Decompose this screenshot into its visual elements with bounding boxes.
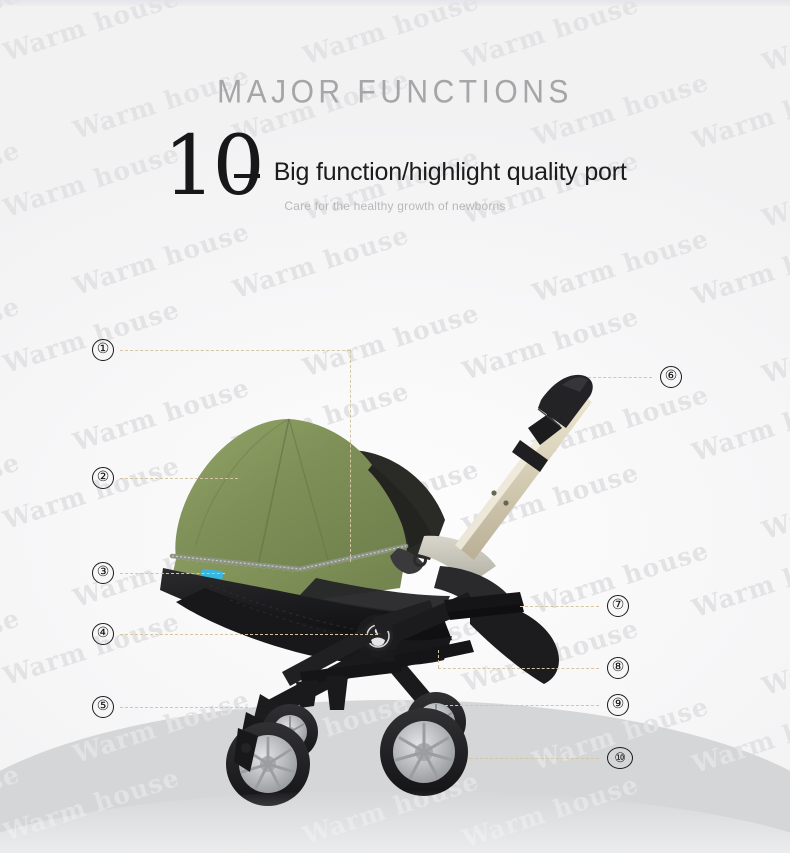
callout-2-number[interactable]: ② bbox=[92, 467, 114, 489]
stroller-illustration bbox=[0, 0, 790, 853]
callout-5-leader-line bbox=[120, 707, 248, 708]
callout-4-number[interactable]: ④ bbox=[92, 623, 114, 645]
handle-bar-group bbox=[455, 375, 593, 560]
callout-8-number[interactable]: ⑧ bbox=[607, 657, 629, 679]
callout-1-leader-line bbox=[120, 350, 350, 351]
callout-10-leader-line bbox=[470, 758, 599, 759]
canopy-group bbox=[170, 419, 445, 603]
callout-1-elbow-line bbox=[350, 350, 351, 562]
callout-1-number[interactable]: ① bbox=[92, 339, 114, 361]
callout-2-leader-line bbox=[120, 478, 238, 479]
callout-8-leader-line bbox=[438, 668, 599, 669]
callout-9-leader-line bbox=[445, 705, 599, 706]
callout-7-number[interactable]: ⑦ bbox=[607, 595, 629, 617]
callout-8-elbow-line bbox=[438, 650, 439, 668]
callout-10-number[interactable]: ⑩ bbox=[607, 747, 633, 769]
callout-6-number[interactable]: ⑥ bbox=[660, 366, 682, 388]
callout-3-leader-line bbox=[120, 573, 225, 574]
callout-3-number[interactable]: ③ bbox=[92, 562, 114, 584]
product-feature-page: Warm houseWarm houseWarm houseWarm house… bbox=[0, 0, 790, 853]
callout-5-number[interactable]: ⑤ bbox=[92, 696, 114, 718]
callout-7-leader-line bbox=[520, 606, 599, 607]
callout-9-number[interactable]: ⑨ bbox=[607, 694, 629, 716]
callout-4-leader-line bbox=[120, 634, 378, 635]
callout-6-leader-line bbox=[588, 377, 652, 378]
